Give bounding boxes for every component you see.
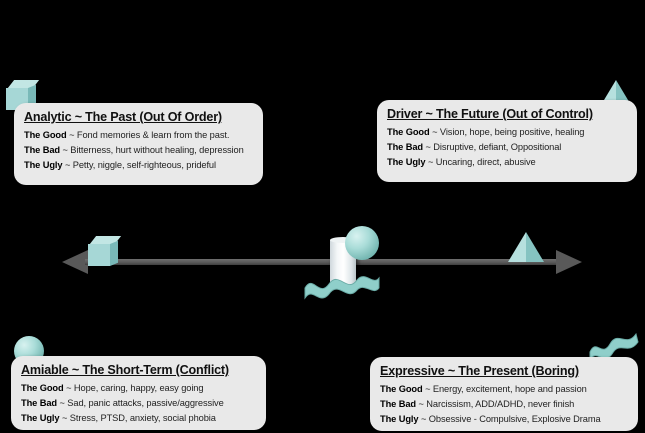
row-sep: ~	[64, 383, 74, 393]
row-label: The Ugly	[380, 414, 418, 424]
quadrant-box-amiable[interactable]: Amiable ~ The Short-Term (Conflict) The …	[11, 356, 266, 430]
row-text: Sad, panic attacks, passive/aggressive	[67, 398, 223, 408]
quadrant-row: The Ugly ~ Stress, PTSD, anxiety, social…	[21, 411, 256, 426]
quadrant-box-expressive[interactable]: Expressive ~ The Present (Boring) The Go…	[370, 357, 638, 431]
quadrant-box-driver[interactable]: Driver ~ The Future (Out of Control) The…	[377, 100, 637, 182]
diagram-canvas: Analytic ~ The Past (Out Of Order) The G…	[0, 0, 645, 433]
quadrant-title: Driver ~ The Future (Out of Control)	[387, 107, 627, 121]
row-sep: ~	[59, 413, 69, 423]
row-sep: ~	[62, 160, 72, 170]
quadrant-row: The Good ~ Hope, caring, happy, easy goi…	[21, 381, 256, 396]
row-label: The Ugly	[24, 160, 62, 170]
quadrant-title: Expressive ~ The Present (Boring)	[380, 364, 628, 378]
row-text: Energy, excitement, hope and passion	[433, 384, 587, 394]
quadrant-row: The Good ~ Energy, excitement, hope and …	[380, 382, 628, 397]
quadrant-row: The Ugly ~ Petty, niggle, self-righteous…	[24, 158, 253, 173]
quadrant-title: Analytic ~ The Past (Out Of Order)	[24, 110, 253, 124]
row-text: Disruptive, defiant, Oppositional	[433, 142, 561, 152]
arrow-right-icon	[556, 250, 582, 274]
row-label: The Bad	[24, 145, 60, 155]
center-sphere-icon	[345, 226, 379, 260]
quadrant-row: The Good ~ Fond memories & learn from th…	[24, 128, 253, 143]
axis-cube-icon	[88, 236, 118, 266]
row-text: Vision, hope, being positive, healing	[440, 127, 584, 137]
quadrant-row: The Bad ~ Disruptive, defiant, Oppositio…	[387, 140, 627, 155]
quadrant-row: The Bad ~ Narcissism, ADD/ADHD, never fi…	[380, 397, 628, 412]
row-label: The Bad	[21, 398, 57, 408]
row-label: The Good	[387, 127, 430, 137]
quadrant-title: Amiable ~ The Short-Term (Conflict)	[21, 363, 256, 377]
row-text: Petty, niggle, self-righteous, prideful	[73, 160, 216, 170]
quadrant-box-analytic[interactable]: Analytic ~ The Past (Out Of Order) The G…	[14, 103, 263, 185]
row-sep: ~	[430, 127, 440, 137]
row-sep: ~	[67, 130, 77, 140]
row-text: Narcissism, ADD/ADHD, never finish	[426, 399, 574, 409]
row-text: Hope, caring, happy, easy going	[74, 383, 204, 393]
row-sep: ~	[57, 398, 67, 408]
quadrant-row: The Ugly ~ Uncaring, direct, abusive	[387, 155, 627, 170]
row-sep: ~	[425, 157, 435, 167]
row-sep: ~	[418, 414, 428, 424]
row-label: The Bad	[380, 399, 416, 409]
row-label: The Good	[21, 383, 64, 393]
row-sep: ~	[60, 145, 70, 155]
row-label: The Good	[24, 130, 67, 140]
row-text: Stress, PTSD, anxiety, social phobia	[70, 413, 216, 423]
row-sep: ~	[423, 142, 433, 152]
row-sep: ~	[416, 399, 426, 409]
quadrant-row: The Good ~ Vision, hope, being positive,…	[387, 125, 627, 140]
row-text: Bitterness, hurt without healing, depres…	[70, 145, 243, 155]
row-label: The Ugly	[387, 157, 425, 167]
row-sep: ~	[423, 384, 433, 394]
quadrant-row: The Ugly ~ Obsessive - Compulsive, Explo…	[380, 412, 628, 427]
row-label: The Bad	[387, 142, 423, 152]
row-text: Uncaring, direct, abusive	[436, 157, 536, 167]
quadrant-row: The Bad ~ Bitterness, hurt without heali…	[24, 143, 253, 158]
axis-bar	[85, 259, 560, 265]
center-wave-icon	[303, 272, 381, 302]
row-label: The Ugly	[21, 413, 59, 423]
row-text: Obsessive - Compulsive, Explosive Drama	[429, 414, 601, 424]
row-label: The Good	[380, 384, 423, 394]
quadrant-row: The Bad ~ Sad, panic attacks, passive/ag…	[21, 396, 256, 411]
axis-pyramid-icon	[508, 232, 544, 262]
row-text: Fond memories & learn from the past.	[77, 130, 229, 140]
